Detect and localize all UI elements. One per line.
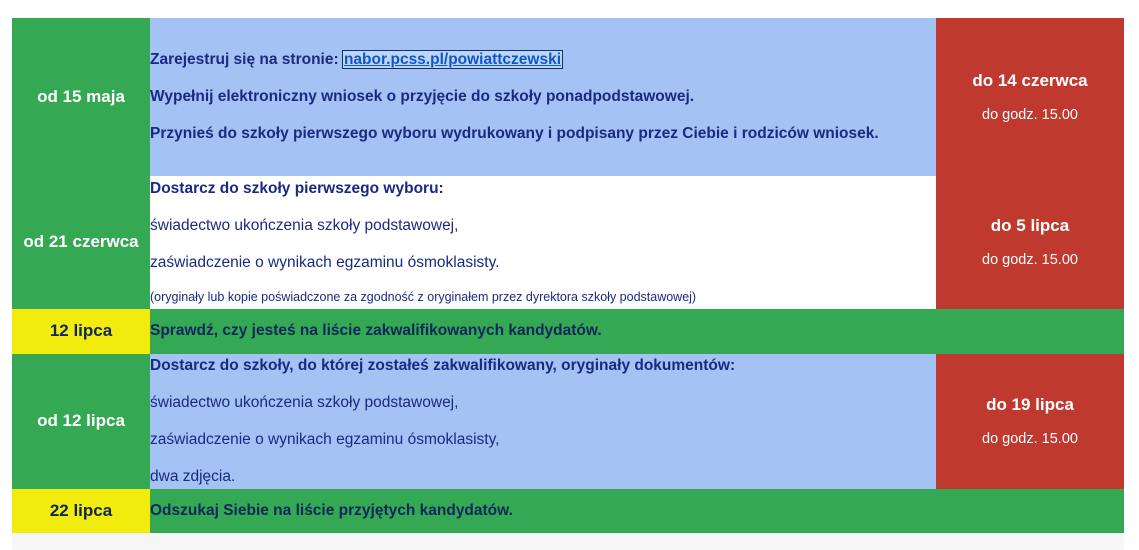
- deadline-sub: do godz. 15.00: [936, 251, 1124, 270]
- task-line-note: (oryginały lub kopie poświadczone za zgo…: [150, 288, 936, 307]
- task-cell-od-12-lipca: Dostarcz do szkoły, do której zostałeś z…: [150, 354, 936, 489]
- page-underlay: [12, 533, 1124, 550]
- date-cell-12-lipca: 12 lipca: [12, 309, 150, 354]
- table-row: od 15 maja Zarejestruj się na stronie: n…: [12, 18, 1124, 176]
- date-cell-22-lipca: 22 lipca: [12, 489, 150, 533]
- task-line-exam-results: zaświadczenie o wynikach egzaminu ósmokl…: [150, 428, 936, 452]
- task-line-deliver: Dostarcz do szkoły pierwszego wyboru:: [150, 177, 936, 201]
- date-label: od 12 lipca: [37, 411, 125, 430]
- deadline-cell-19-lipca: do 19 lipca do godz. 15.00: [936, 354, 1124, 489]
- task-cell-15-maja: Zarejestruj się na stronie: nabor.pcss.p…: [150, 18, 936, 176]
- schedule-table-body: od 15 maja Zarejestruj się na stronie: n…: [12, 18, 1124, 533]
- deadline-sub: do godz. 15.00: [936, 430, 1124, 449]
- task-line-register: Zarejestruj się na stronie: nabor.pcss.p…: [150, 48, 936, 72]
- deadline-sub: do godz. 15.00: [936, 106, 1124, 125]
- deadline-cell-empty-12-lipca: [936, 309, 1124, 354]
- recruitment-schedule-table: od 15 maja Zarejestruj się na stronie: n…: [12, 18, 1124, 533]
- date-label: od 15 maja: [37, 87, 125, 106]
- deadline-cell-empty-22-lipca: [936, 489, 1124, 533]
- date-label: 22 lipca: [50, 501, 112, 520]
- table-row: od 12 lipca Dostarcz do szkoły, do które…: [12, 354, 1124, 489]
- registration-url-link[interactable]: nabor.pcss.pl/powiattczewski: [343, 51, 562, 68]
- deadline-main: do 19 lipca: [936, 394, 1124, 416]
- task-line-find-accepted: Odszukaj Siebie na liście przyjętych kan…: [150, 499, 936, 523]
- table-row: 12 lipca Sprawdź, czy jesteś na liście z…: [12, 309, 1124, 354]
- page-root: od 15 maja Zarejestruj się na stronie: n…: [0, 0, 1139, 550]
- table-row: 22 lipca Odszukaj Siebie na liście przyj…: [12, 489, 1124, 533]
- table-row: od 21 czerwca Dostarcz do szkoły pierwsz…: [12, 176, 1124, 309]
- date-cell-21-czerwca: od 21 czerwca: [12, 176, 150, 309]
- task-cell-22-lipca: Odszukaj Siebie na liście przyjętych kan…: [150, 489, 936, 533]
- deadline-main: do 5 lipca: [936, 215, 1124, 237]
- deadline-cell-5-lipca: do 5 lipca do godz. 15.00: [936, 176, 1124, 309]
- task-line-deliver-originals: Dostarcz do szkoły, do której zostałeś z…: [150, 354, 936, 378]
- task-line-certificate: świadectwo ukończenia szkoły podstawowej…: [150, 391, 936, 415]
- task-line-prefix: Zarejestruj się na stronie:: [150, 51, 343, 68]
- date-cell-od-12-lipca: od 12 lipca: [12, 354, 150, 489]
- task-line-photos: dwa zdjęcia.: [150, 465, 936, 489]
- task-line-exam-results: zaświadczenie o wynikach egzaminu ósmokl…: [150, 251, 936, 275]
- deadline-cell-14-czerwca: do 14 czerwca do godz. 15.00: [936, 18, 1124, 176]
- task-cell-12-lipca: Sprawdź, czy jesteś na liście zakwalifik…: [150, 309, 936, 354]
- date-label: od 21 czerwca: [23, 232, 138, 251]
- task-cell-21-czerwca: Dostarcz do szkoły pierwszego wyboru: św…: [150, 176, 936, 309]
- task-line-bring-form: Przynieś do szkoły pierwszego wyboru wyd…: [150, 122, 936, 146]
- task-line-fill-form: Wypełnij elektroniczny wniosek o przyjęc…: [150, 85, 936, 109]
- deadline-main: do 14 czerwca: [936, 70, 1124, 92]
- task-line-check-qualified: Sprawdź, czy jesteś na liście zakwalifik…: [150, 319, 936, 343]
- date-cell-15-maja: od 15 maja: [12, 18, 150, 176]
- task-line-certificate: świadectwo ukończenia szkoły podstawowej…: [150, 214, 936, 238]
- date-label: 12 lipca: [50, 321, 112, 340]
